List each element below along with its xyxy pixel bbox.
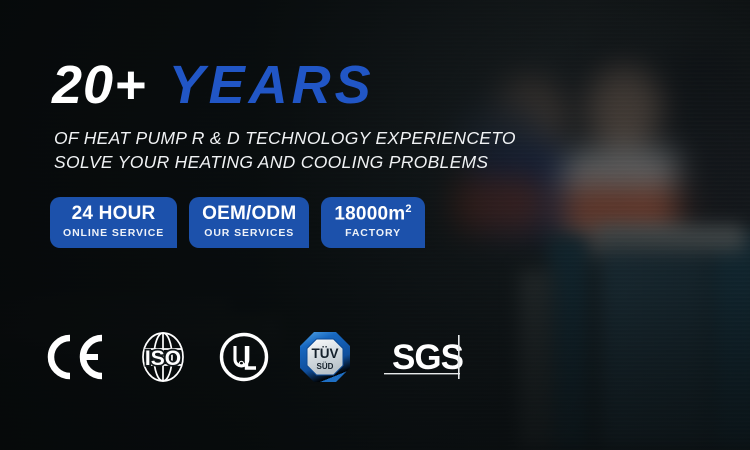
headline: 20+YEARS	[52, 58, 375, 112]
promo-banner: 20+YEARS OF HEAT PUMP R & D TECHNOLOGY E…	[0, 0, 750, 450]
badge-24-hour-title: 24 HOUR	[63, 204, 164, 224]
sgs-logo-icon: SGS	[380, 326, 466, 388]
banner-content: 20+YEARS OF HEAT PUMP R & D TECHNOLOGY E…	[0, 0, 750, 450]
svg-text:TÜV: TÜV	[312, 346, 339, 361]
badge-factory-area-unit-exponent: 2	[405, 203, 411, 215]
certification-logo-row: ISO	[46, 326, 466, 388]
headline-number: 20+	[52, 55, 147, 115]
headline-word: YEARS	[169, 55, 375, 115]
svg-text:ISO: ISO	[145, 347, 181, 370]
ce-mark-icon	[46, 326, 108, 388]
subheadline-line-1: OF HEAT PUMP R & D TECHNOLOGY EXPERIENCE…	[54, 126, 516, 150]
svg-text:SÜD: SÜD	[317, 362, 334, 371]
badge-oem-odm-title: OEM/ODM	[202, 204, 296, 224]
subheadline: OF HEAT PUMP R & D TECHNOLOGY EXPERIENCE…	[54, 126, 516, 174]
badge-factory-area-subtitle: FACTORY	[334, 227, 411, 239]
badge-row: 24 HOUR ONLINE SERVICE OEM/ODM OUR SERVI…	[50, 197, 425, 248]
badge-oem-odm-subtitle: OUR SERVICES	[202, 227, 296, 239]
tuv-sud-logo-icon: TÜV SÜD	[298, 326, 352, 388]
iso-logo-icon: ISO	[136, 326, 190, 388]
badge-24-hour-subtitle: ONLINE SERVICE	[63, 227, 164, 239]
badge-24-hour[interactable]: 24 HOUR ONLINE SERVICE	[50, 197, 177, 248]
badge-factory-area[interactable]: 18000m2 FACTORY	[321, 197, 424, 248]
subheadline-line-2: SOLVE YOUR HEATING AND COOLING PROBLEMS	[54, 150, 516, 174]
badge-factory-area-title: 18000m2	[334, 204, 411, 224]
badge-oem-odm[interactable]: OEM/ODM OUR SERVICES	[189, 197, 309, 248]
badge-factory-area-value: 18000m	[334, 203, 405, 224]
ul-listed-icon	[218, 326, 270, 388]
svg-text:SGS: SGS	[392, 338, 463, 377]
